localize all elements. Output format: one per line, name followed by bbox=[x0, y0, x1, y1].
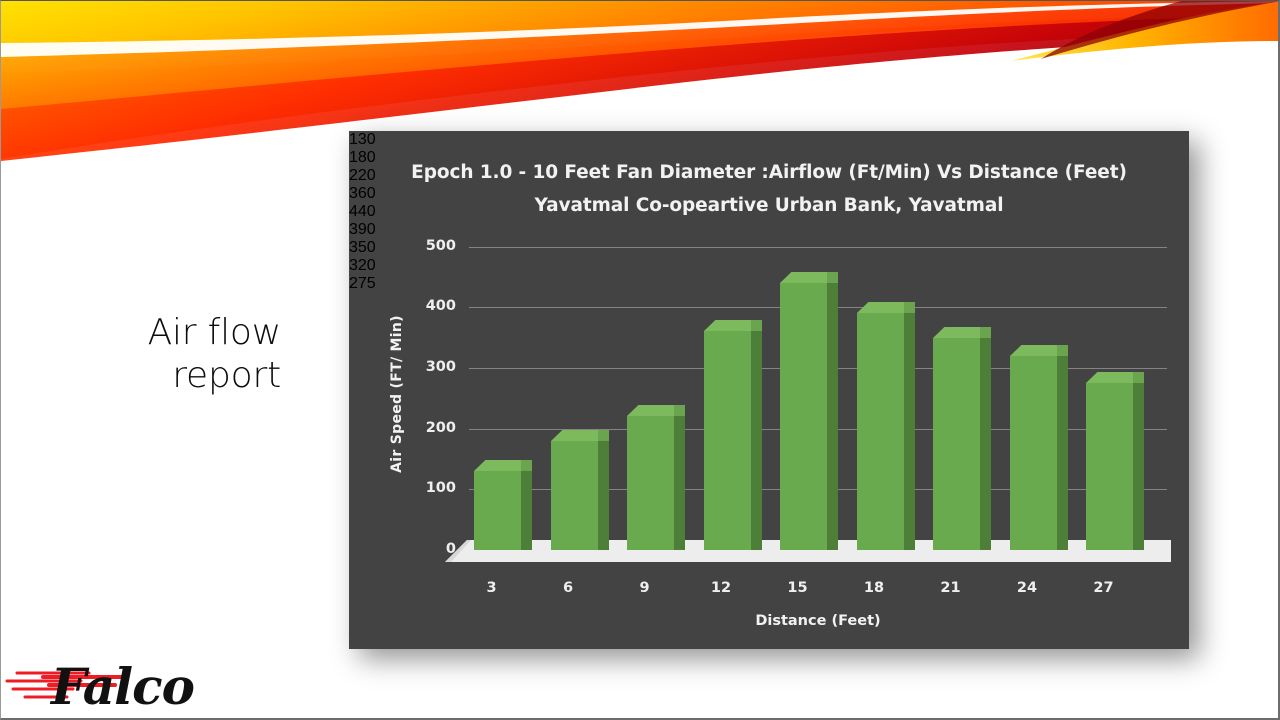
bar-side-top-face bbox=[904, 302, 915, 313]
x-axis-tick: 24 bbox=[987, 580, 1067, 596]
x-axis-tick: 9 bbox=[605, 580, 685, 596]
x-axis-tick: 15 bbox=[758, 580, 838, 596]
bar-value-label: 220 bbox=[349, 167, 1189, 185]
bar-side-face bbox=[1057, 356, 1068, 550]
bar-front-face bbox=[474, 471, 521, 550]
bar-front-face bbox=[780, 283, 827, 550]
bar-column[interactable] bbox=[551, 430, 609, 550]
bar-column[interactable] bbox=[780, 272, 838, 550]
bar-side-top-face bbox=[827, 272, 838, 283]
bar-value-label: 320 bbox=[349, 257, 1189, 275]
bar-front-face bbox=[1086, 383, 1133, 550]
bar-side-face bbox=[674, 416, 685, 550]
bar-side-face bbox=[1133, 383, 1144, 550]
bar-column[interactable] bbox=[1086, 372, 1144, 550]
caption-line-2: report bbox=[19, 354, 281, 397]
bar-front-face bbox=[627, 416, 674, 550]
bar-column[interactable] bbox=[627, 405, 685, 550]
x-axis-tick: 12 bbox=[681, 580, 761, 596]
gridline bbox=[469, 247, 1167, 248]
x-axis-tick: 3 bbox=[452, 580, 532, 596]
bar-side-face bbox=[904, 313, 915, 550]
bar-side-top-face bbox=[521, 460, 532, 471]
x-axis-tick: 27 bbox=[1064, 580, 1144, 596]
bar-front-face bbox=[1010, 356, 1057, 550]
bar-side-face bbox=[980, 338, 991, 550]
bar-value-label: 350 bbox=[349, 239, 1189, 257]
bar-column[interactable] bbox=[474, 460, 532, 550]
y-axis-label: Air Speed (FT/ Min) bbox=[389, 284, 405, 504]
bar-column[interactable] bbox=[857, 302, 915, 550]
y-axis-tick: 500 bbox=[394, 238, 456, 254]
bar-value-label: 275 bbox=[349, 275, 1189, 293]
bar-front-face bbox=[551, 441, 598, 550]
chart-panel: Epoch 1.0 - 10 Feet Fan Diameter :Airflo… bbox=[349, 131, 1189, 649]
bar-side-top-face bbox=[674, 405, 685, 416]
x-axis-tick: 18 bbox=[834, 580, 914, 596]
x-axis-label: Distance (Feet) bbox=[469, 613, 1167, 629]
bar-side-top-face bbox=[1133, 372, 1144, 383]
plot-area: 5004003002001000130318062209360124401539… bbox=[349, 131, 1189, 649]
bar-side-face bbox=[521, 471, 532, 550]
caption-line-1: Air flow bbox=[19, 311, 281, 354]
slide-caption: Air flow report bbox=[19, 311, 281, 397]
bar-side-face bbox=[751, 331, 762, 550]
bar-value-label: 130 bbox=[349, 131, 1189, 149]
presentation-slide: Air flow report Epoch 1.0 - 10 Feet Fan … bbox=[0, 0, 1280, 720]
falco-logo: Falco bbox=[3, 663, 203, 720]
bar-column[interactable] bbox=[704, 320, 762, 550]
bar-side-face bbox=[598, 441, 609, 550]
bar-side-face bbox=[827, 283, 838, 550]
bar-front-face bbox=[857, 313, 904, 550]
bar-side-top-face bbox=[751, 320, 762, 331]
bar-side-top-face bbox=[980, 327, 991, 338]
bar-value-label: 360 bbox=[349, 185, 1189, 203]
x-axis-tick: 6 bbox=[528, 580, 608, 596]
logo-wordmark: Falco bbox=[51, 663, 194, 716]
bar-front-face bbox=[704, 331, 751, 550]
bar-value-label: 440 bbox=[349, 203, 1189, 221]
bar-column[interactable] bbox=[1010, 345, 1068, 550]
bar-column[interactable] bbox=[933, 327, 991, 550]
bar-front-face bbox=[933, 338, 980, 550]
bar-side-top-face bbox=[1057, 345, 1068, 356]
x-axis-tick: 21 bbox=[911, 580, 991, 596]
bar-value-label: 180 bbox=[349, 149, 1189, 167]
bar-side-top-face bbox=[598, 430, 609, 441]
bar-value-label: 390 bbox=[349, 221, 1189, 239]
